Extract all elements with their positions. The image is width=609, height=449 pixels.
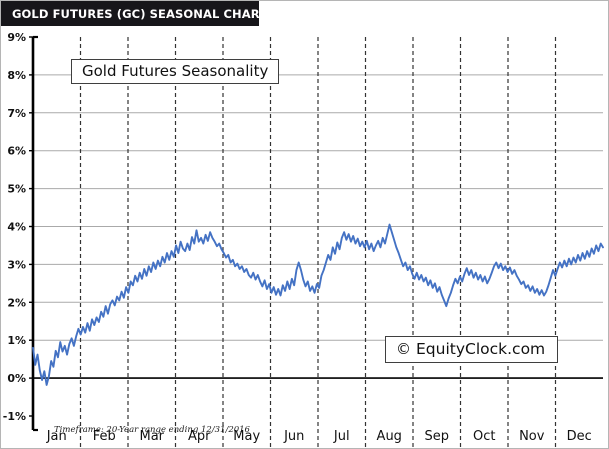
svg-text:-1%: -1% — [3, 410, 26, 423]
svg-text:Oct: Oct — [473, 429, 495, 444]
svg-text:Nov: Nov — [519, 429, 545, 444]
svg-text:4%: 4% — [7, 221, 26, 234]
svg-text:Sep: Sep — [424, 429, 449, 444]
chart-title-callout: Gold Futures Seasonality — [71, 59, 279, 84]
seasonal-chart: 9%8%7%6%5%4%3%2%1%0%-1%JanFebMarAprMayJu… — [1, 26, 608, 448]
screenshot-root: GOLD FUTURES (GC) SEASONAL CHART 9%8%7%6… — [0, 0, 609, 449]
svg-text:Timeframe: 20-Year range endi: Timeframe: 20-Year range ending 12/31/20… — [54, 425, 251, 435]
svg-text:5%: 5% — [7, 183, 26, 196]
svg-text:9%: 9% — [7, 31, 26, 44]
chart-canvas: 9%8%7%6%5%4%3%2%1%0%-1%JanFebMarAprMayJu… — [1, 26, 608, 448]
svg-text:0%: 0% — [7, 372, 26, 385]
svg-text:7%: 7% — [7, 107, 26, 120]
chart-title-text: Gold Futures Seasonality — [82, 62, 268, 80]
svg-text:Jul: Jul — [333, 429, 350, 444]
copyright-icon: © — [396, 340, 411, 358]
watermark-text: EquityClock.com — [416, 340, 545, 358]
svg-text:Dec: Dec — [567, 429, 592, 444]
svg-text:2%: 2% — [7, 296, 26, 309]
header-bar: GOLD FUTURES (GC) SEASONAL CHART — [1, 1, 259, 26]
page-title: GOLD FUTURES (GC) SEASONAL CHART — [1, 7, 267, 21]
svg-text:6%: 6% — [7, 145, 26, 158]
svg-text:1%: 1% — [7, 334, 26, 347]
svg-text:3%: 3% — [7, 258, 26, 271]
svg-text:Jun: Jun — [283, 429, 304, 444]
svg-text:Aug: Aug — [377, 429, 402, 444]
svg-text:8%: 8% — [7, 69, 26, 82]
watermark-callout: © EquityClock.com — [385, 336, 558, 363]
